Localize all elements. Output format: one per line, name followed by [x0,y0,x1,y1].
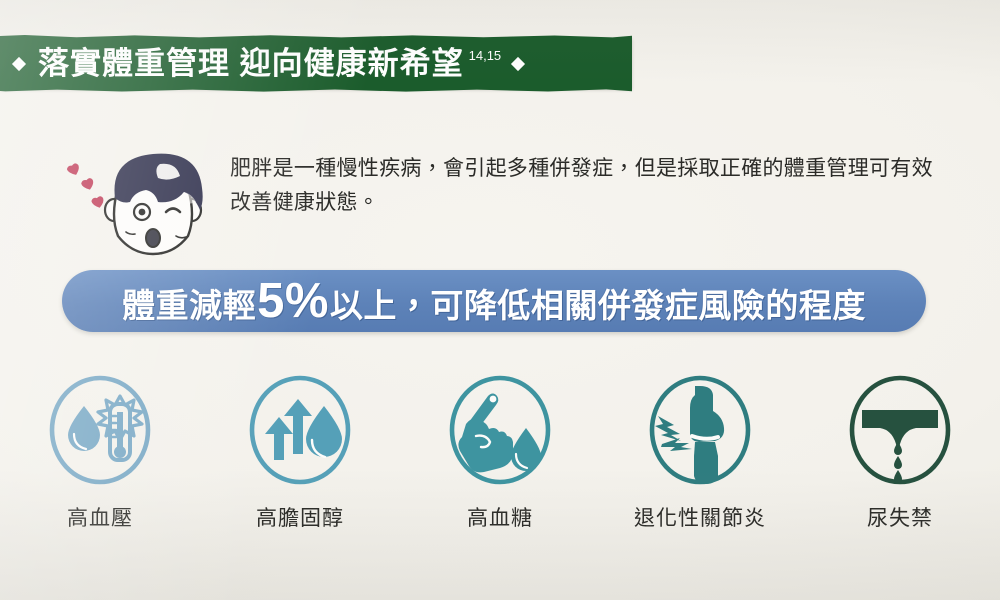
weight-loss-percent: 5% [256,277,330,326]
page-title: 落實體重管理 迎向健康新希望 [38,48,464,79]
diamond-bullet-right-icon [511,56,525,70]
key-message-prefix: 體重減輕 [122,289,256,322]
heart-icon [66,163,105,209]
complication-item-cholesterol: 高膽固醇 [200,372,400,552]
complication-label: 高血糖 [467,502,533,532]
key-message-suffix: 以上，可降低相關併發症風險的程度 [330,289,866,322]
knee-joint-pain-icon [646,372,754,488]
diamond-bullet-left-icon [12,56,26,70]
complication-label: 退化性關節炎 [634,502,766,532]
key-message-text: 體重減輕5%以上，可降低相關併發症風險的程度 [122,277,866,326]
complication-label: 高血壓 [67,502,133,532]
infographic-poster: 落實體重管理 迎向健康新希望 14,15 [0,0,1000,600]
winking-boy-face-icon [60,140,230,260]
key-message-banner: 體重減輕5%以上，可降低相關併發症風險的程度 [62,270,926,332]
intro-paragraph: 肥胖是一種慢性疾病，會引起多種併發症，但是採取正確的體重管理可有效改善健康狀態。 [230,152,950,220]
complication-item-osteoarthritis: 退化性關節炎 [600,372,800,552]
complication-label: 高膽固醇 [256,502,344,532]
complication-item-hyperglycemia: 高血糖 [400,372,600,552]
complication-item-hypertension: 高血壓 [0,372,200,552]
blood-drop-thermometer-icon [46,372,154,488]
complication-label: 尿失禁 [867,502,933,532]
intro-block: 肥胖是一種慢性疾病，會引起多種併發症，但是採取正確的體重管理可有效改善健康狀態。 [60,140,950,260]
header-banner: 落實體重管理 迎向健康新希望 14,15 [0,38,632,89]
rising-arrows-blood-drop-icon [246,372,354,488]
underwear-leak-icon [846,372,954,488]
finger-prick-blood-drop-icon [446,372,554,488]
reference-superscript: 14,15 [469,48,502,63]
complication-item-incontinence: 尿失禁 [800,372,1000,552]
complications-row: 高血壓 高膽固醇 [0,372,1000,552]
